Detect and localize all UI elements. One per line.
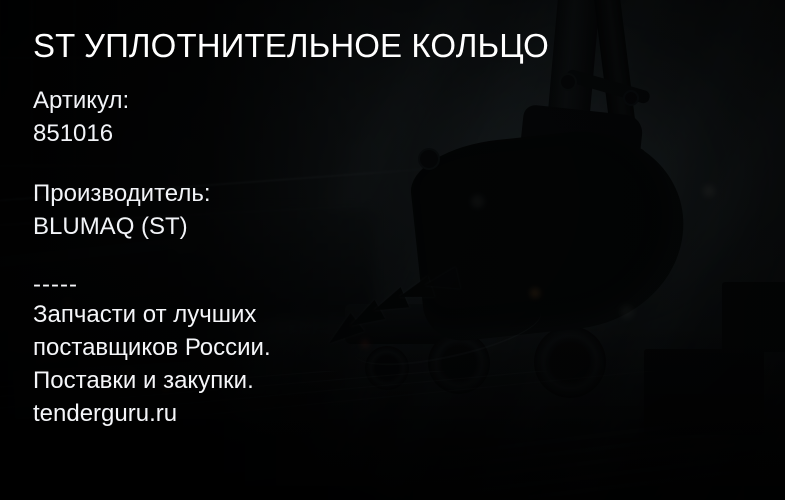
promo-separator: ----- — [33, 272, 271, 298]
card-content: ST УПЛОТНИТЕЛЬНОЕ КОЛЬЦО Артикул: 851016… — [0, 0, 785, 500]
promo-site-url: tenderguru.ru — [33, 397, 271, 430]
field-sku: Артикул: 851016 — [33, 84, 129, 150]
field-sku-label: Артикул: — [33, 84, 129, 117]
product-banner-card: ST УПЛОТНИТЕЛЬНОЕ КОЛЬЦО Артикул: 851016… — [0, 0, 785, 500]
field-sku-value: 851016 — [33, 117, 129, 150]
promo-line-3: Поставки и закупки. — [33, 364, 271, 397]
field-manufacturer-value: BLUMAQ (ST) — [33, 210, 211, 243]
field-manufacturer-label: Производитель: — [33, 177, 211, 210]
promo-line-2: поставщиков России. — [33, 331, 271, 364]
promo-line-1: Запчасти от лучших — [33, 298, 271, 331]
field-manufacturer: Производитель: BLUMAQ (ST) — [33, 177, 211, 243]
promo-block: ----- Запчасти от лучших поставщиков Рос… — [33, 272, 271, 430]
product-title: ST УПЛОТНИТЕЛЬНОЕ КОЛЬЦО — [33, 27, 549, 65]
